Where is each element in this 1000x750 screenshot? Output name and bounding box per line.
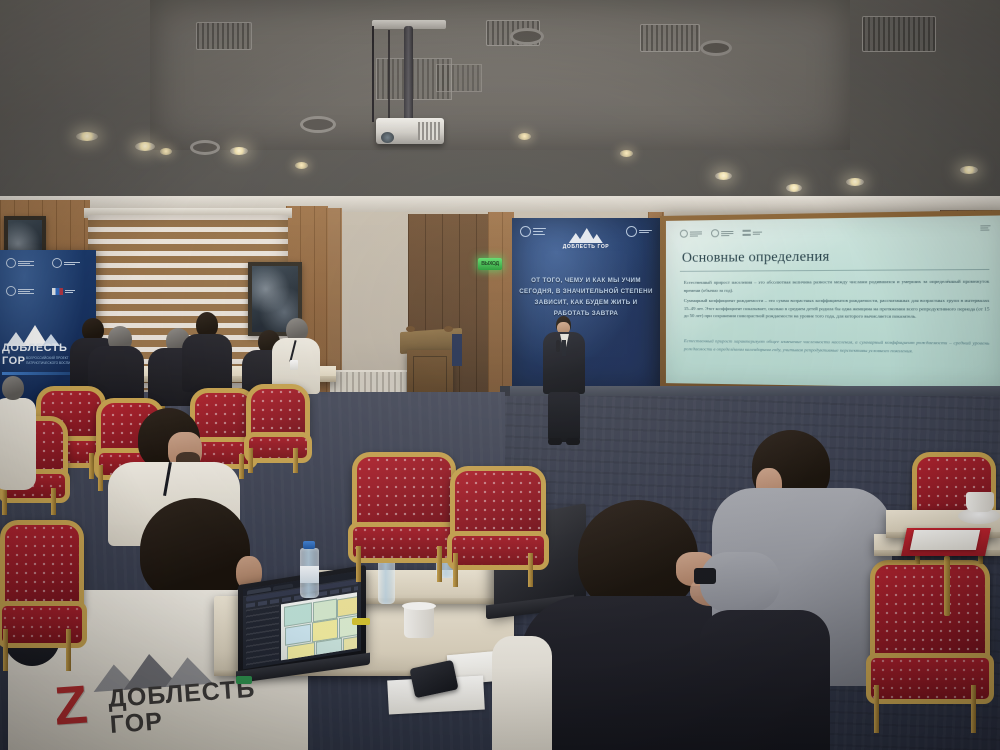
ceiling-vent	[436, 64, 482, 92]
exit-sign: ВЫХОД	[478, 258, 502, 270]
stage-backdrop-banner: ДОБЛЕСТЬ ГОР ОТ ТОГО, ЧЕМУ И КАК МЫ УЧИМ…	[512, 218, 660, 390]
projector-pole	[404, 26, 413, 122]
banner-org-logo: ДОБЛЕСТЬ ГОР	[563, 228, 609, 250]
rollup-logo-1	[6, 258, 34, 268]
banner-quote: ОТ ТОГО, ЧЕМУ И КАК МЫ УЧИМ СЕГОДНЯ, В З…	[518, 276, 654, 319]
app-sidebar[interactable]	[246, 605, 279, 666]
exit-sign-label: ВЫХОД	[481, 261, 499, 267]
projector-vent	[418, 122, 440, 140]
ceiling-speaker	[300, 116, 336, 133]
slide-title: Основные определения	[682, 249, 830, 267]
banner-partner-logo-right	[626, 226, 652, 237]
speaker-tie	[562, 340, 566, 356]
canvas-card[interactable]	[337, 596, 357, 617]
tshirt-word-2: ГОР	[109, 707, 164, 740]
paper-sheet[interactable]	[910, 530, 980, 550]
ceiling-downlight	[135, 142, 155, 151]
slide-corner-logo	[980, 225, 990, 230]
chair[interactable]	[870, 560, 980, 720]
badge	[290, 360, 298, 370]
speaker-legs	[548, 392, 580, 442]
speaker-shoe	[566, 438, 580, 445]
tshirt-logo: Z ДОБЛЕСТЬ ГОР	[49, 649, 224, 743]
ceiling-downlight	[960, 166, 978, 174]
ceiling-downlight	[620, 150, 633, 157]
foreground-person-sleeve	[492, 636, 552, 750]
ceiling-downlight	[786, 184, 802, 192]
audience-bag	[700, 610, 830, 750]
bottle-cap[interactable]	[303, 541, 315, 549]
audience-torso	[182, 334, 232, 392]
rollup-logo-2	[52, 258, 80, 268]
ceiling-downlight	[518, 133, 531, 140]
table-leg	[944, 556, 950, 616]
slide-paragraph-1: Естественный прирост населения – это абс…	[684, 277, 990, 294]
lectern-knob	[406, 326, 415, 332]
projector-lens-icon	[381, 132, 394, 143]
highlighter-marker[interactable]	[352, 618, 370, 625]
marker-pen[interactable]	[236, 676, 252, 684]
rollup-logo-4	[52, 288, 75, 295]
banner-quote-line: ОТ ТОГО, ЧЕМУ И КАК МЫ УЧИМ	[518, 276, 654, 287]
banner-org-name: ДОБЛЕСТЬ ГОР	[563, 244, 609, 250]
paper-cup-rim	[402, 602, 436, 610]
slide-title-rule	[680, 269, 990, 272]
banner-quote-line: ЗАВИСИТ, КАК БУДЕМ ЖИТЬ И	[518, 298, 654, 309]
banner-quote-line: РАБОТАТЬ ЗАВТРА	[518, 309, 654, 320]
ceiling-speaker	[190, 140, 220, 155]
rollup-logo-3	[6, 286, 34, 296]
slide-paragraph-2: Суммарный коэффициент рождаемости – это …	[684, 297, 990, 321]
foreground-person-head	[140, 498, 250, 602]
chair[interactable]	[352, 452, 446, 572]
canvas-card[interactable]	[287, 642, 315, 660]
coffee-cup[interactable]	[966, 492, 994, 512]
ceiling-vent	[640, 24, 700, 52]
slide-paragraph-3: Естественный прирост характеризует общее…	[684, 337, 990, 355]
chair[interactable]	[246, 384, 300, 466]
bottle-label	[300, 566, 319, 583]
ceiling-speaker	[510, 28, 544, 45]
chair[interactable]	[450, 466, 536, 578]
mountain-icon	[567, 228, 605, 243]
app-canvas[interactable]	[281, 592, 357, 660]
ceiling-downlight	[846, 178, 864, 186]
wood-wall-panel	[488, 212, 514, 402]
audience-torso	[0, 398, 36, 490]
audience-head	[2, 376, 24, 400]
projection-screen: Основные определения Естественный прирос…	[666, 215, 1000, 388]
ceiling-downlight	[715, 172, 732, 180]
ceiling-downlight	[230, 147, 248, 155]
slide-logo-3	[743, 230, 763, 236]
tshirt-letter-mark: Z	[53, 683, 89, 731]
rollup-title-line-2: ГОР	[2, 355, 25, 367]
lectern-knob	[444, 326, 453, 332]
slide-logo-1	[680, 229, 702, 237]
ceiling-downlight	[295, 162, 308, 169]
speaker-shoe	[548, 438, 562, 445]
slide-logo-2	[711, 229, 733, 237]
ceiling-downlight	[76, 132, 98, 141]
banner-quote-line: СЕГОДНЯ, В ЗНАЧИТЕЛЬНОЙ СТЕПЕНИ	[518, 287, 654, 298]
ceiling-vent	[196, 22, 252, 50]
ceiling-downlight	[160, 148, 172, 155]
canvas-card[interactable]	[343, 635, 357, 655]
ceiling-speaker	[700, 40, 732, 56]
microphone-icon	[556, 340, 560, 352]
wristwatch	[694, 568, 716, 584]
conference-room-photo: ВЫХОД ДОБЛЕСТЬ ГОР	[0, 0, 1000, 750]
lectern-side-panel	[452, 334, 462, 366]
rollup-title-line-1: ДОБЛЕСТЬ	[2, 342, 67, 354]
banner-partner-logo-left	[520, 226, 546, 237]
chair[interactable]	[0, 520, 74, 660]
ceiling-vent	[862, 16, 936, 52]
projection-screen-frame: Основные определения Естественный прирос…	[660, 210, 1000, 394]
slide-header-logos	[680, 229, 762, 238]
